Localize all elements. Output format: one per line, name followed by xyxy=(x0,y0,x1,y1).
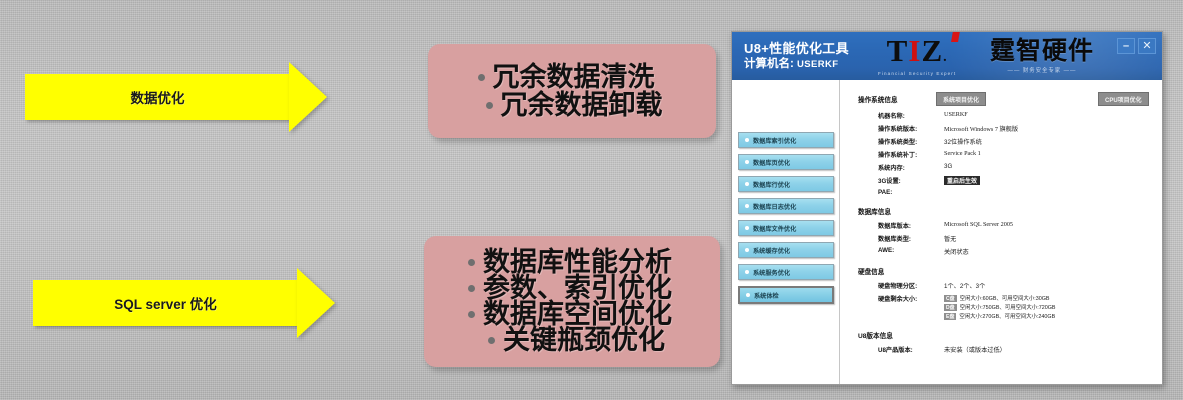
info-key: 操作系统类型: xyxy=(878,137,944,146)
arrow-shaft: SQL server 优化 xyxy=(33,280,298,326)
info-value: 1个、2个、3个 xyxy=(944,281,985,290)
info-value: 暂无 xyxy=(944,234,956,243)
list-item-label: 关键瓶颈优化 xyxy=(503,327,665,354)
bullet-dot-icon xyxy=(468,285,475,292)
info-key: PAE: xyxy=(878,189,944,196)
list-item: 关键瓶颈优化 xyxy=(468,327,672,354)
disk-badge: C盘 xyxy=(944,295,957,302)
logo-letter-z: Z xyxy=(921,33,943,68)
list-item: 数据库空间优化 xyxy=(468,301,672,328)
info-key: 数据库版本: xyxy=(878,221,944,230)
info-row-db-version: 数据库版本: Microsoft SQL Server 2005 xyxy=(858,221,1154,230)
list-item-label: 冗余数据卸载 xyxy=(501,92,663,119)
sidebar-item-label: 系统缓存优化 xyxy=(753,246,790,255)
list-item-label: 参数、索引优化 xyxy=(483,275,672,302)
brand-name: 霆智硬件 xyxy=(990,38,1094,65)
bullet-list: 冗余数据清洗 冗余数据卸载 xyxy=(478,63,663,120)
sidebar-item-label: 系统体检 xyxy=(754,291,779,300)
sidebar-item-db-index[interactable]: 数据库索引优化 xyxy=(738,132,834,148)
list-item-label: 冗余数据清洗 xyxy=(493,64,655,91)
sidebar-item-db-row[interactable]: 数据库行优化 xyxy=(738,176,834,192)
info-row-pae: PAE: xyxy=(858,189,1154,196)
callout-box-data-optimization: 冗余数据清洗 冗余数据卸载 xyxy=(428,44,716,138)
info-key: 硬盘剩余大小: xyxy=(878,294,944,303)
bullet-icon xyxy=(745,160,749,164)
disk-badge: E盘 xyxy=(944,313,956,320)
logo-letter-t: T xyxy=(887,33,909,68)
info-key: 操作系统补丁: xyxy=(878,150,944,159)
window-title-bar: U8+性能优化工具 计算机名: USERKF TIZ. Financial Se… xyxy=(732,32,1162,80)
bullet-icon xyxy=(745,182,749,186)
title-bar-text-group: U8+性能优化工具 计算机名: USERKF xyxy=(732,41,849,71)
reboot-required-badge: 重启后生效 xyxy=(944,176,980,185)
sidebar-item-label: 数据库日志优化 xyxy=(753,202,796,211)
callout-box-sql-optimization: 数据库性能分析 参数、索引优化 数据库空间优化 关键瓶颈优化 xyxy=(424,236,720,367)
bullet-dot-icon xyxy=(468,259,475,266)
arrow-label: 数据优化 xyxy=(131,87,185,107)
info-key: 操作系统版本: xyxy=(878,124,944,133)
info-value: Service Pack 1 xyxy=(944,150,981,157)
brand-subtitle: —— 财务安全专家 —— xyxy=(990,66,1094,74)
info-value: 未安装（或版本过低） xyxy=(944,345,1006,354)
info-key: 硬盘物理分区: xyxy=(878,281,944,290)
sidebar-item-db-file[interactable]: 数据库文件优化 xyxy=(738,220,834,236)
disk-text: 空闲大小:270GB、可用空间大小:240GB xyxy=(959,312,1055,320)
list-item: 参数、索引优化 xyxy=(468,275,672,302)
db-section-title: 数据库信息 xyxy=(858,206,1154,216)
info-value: Microsoft SQL Server 2005 xyxy=(944,221,1013,228)
bullet-icon xyxy=(745,248,749,252)
disk-free-list: C盘 空闲大小:60GB、可用空间大小:30GB D盘 空闲大小:750GB、可… xyxy=(944,294,1055,320)
list-item-label: 数据库空间优化 xyxy=(483,301,672,328)
tiz-logo: TIZ. Financial Security Expert xyxy=(878,36,956,76)
logo-red-mark-icon xyxy=(951,32,960,42)
list-item: 冗余数据卸载 xyxy=(478,92,663,119)
info-row-os-version: 操作系统版本: Microsoft Windows 7 旗舰版 xyxy=(858,124,1154,133)
info-key: 系统内存: xyxy=(878,163,944,172)
disk-text: 空闲大小:60GB、可用空间大小:30GB xyxy=(960,294,1050,302)
slide-canvas: 数据优化 SQL server 优化 冗余数据清洗 冗余数据卸载 数据库性能 xyxy=(0,0,1183,400)
system-optimize-button[interactable]: 系统项目优化 xyxy=(936,92,986,106)
list-item-label: 数据库性能分析 xyxy=(483,249,672,276)
info-value: Microsoft Windows 7 旗舰版 xyxy=(944,124,1018,133)
arrow-shaft: 数据优化 xyxy=(25,74,290,120)
sidebar-item-system-cache[interactable]: 系统缓存优化 xyxy=(738,242,834,258)
info-key: U8产品版本: xyxy=(878,345,944,354)
bullet-icon xyxy=(745,270,749,274)
info-value: 关闭状态 xyxy=(944,247,969,256)
info-key: AWE: xyxy=(878,247,944,254)
bullet-icon xyxy=(746,293,750,297)
disk-entry: E盘 空闲大小:270GB、可用空间大小:240GB xyxy=(944,312,1055,320)
brand-name-group: 霆智硬件 —— 财务安全专家 —— xyxy=(990,38,1094,74)
list-item: 冗余数据清洗 xyxy=(478,64,663,91)
content-panel: 操作系统信息 系统项目优化 CPU项目优化 机器名称: USERKF 操作系统版… xyxy=(840,80,1162,384)
arrow-sql-optimization: SQL server 优化 xyxy=(33,268,335,338)
os-section-header: 操作系统信息 系统项目优化 CPU项目优化 xyxy=(858,92,1154,106)
disk-entry: D盘 空闲大小:750GB、可用空间大小:720GB xyxy=(944,303,1055,311)
os-section-title: 操作系统信息 xyxy=(858,94,936,104)
info-row-db-type: 数据库类型: 暂无 xyxy=(858,234,1154,243)
logo-period: . xyxy=(943,50,948,65)
app-title: U8+性能优化工具 xyxy=(744,41,849,57)
sidebar-item-label: 数据库索引优化 xyxy=(753,136,796,145)
u8-section-title: U8版本信息 xyxy=(858,330,1154,340)
info-row-os-patch: 操作系统补丁: Service Pack 1 xyxy=(858,150,1154,159)
computer-name-value: USERKF xyxy=(797,59,838,70)
bullet-icon xyxy=(745,138,749,142)
info-value: 3G xyxy=(944,163,952,170)
sidebar-item-system-checkup[interactable]: 系统体检 xyxy=(738,286,834,304)
disk-section-title: 硬盘信息 xyxy=(858,266,1154,276)
info-value: 32位操作系统 xyxy=(944,137,982,146)
sidebar-item-label: 数据库行优化 xyxy=(753,180,790,189)
bullet-dot-icon xyxy=(488,337,495,344)
computer-name-label: 计算机名: xyxy=(744,58,794,70)
logo-letter-i: I xyxy=(908,33,921,68)
disk-text: 空闲大小:750GB、可用空间大小:720GB xyxy=(960,303,1056,311)
info-key: 3G设置: xyxy=(878,176,944,185)
sidebar-item-db-log[interactable]: 数据库日志优化 xyxy=(738,198,834,214)
bullet-dot-icon xyxy=(478,74,485,81)
arrow-data-optimization: 数据优化 xyxy=(25,62,327,132)
window-body: 数据库索引优化 数据库页优化 数据库行优化 数据库日志优化 数据库文件优化 xyxy=(732,80,1162,384)
arrow-label: SQL server 优化 xyxy=(114,293,217,313)
application-window: U8+性能优化工具 计算机名: USERKF TIZ. Financial Se… xyxy=(731,31,1163,385)
info-row-memory: 系统内存: 3G xyxy=(858,163,1154,172)
sidebar-item-label: 系统服务优化 xyxy=(753,268,790,277)
logo-wordmark: TIZ. xyxy=(887,36,948,73)
info-row-u8-version: U8产品版本: 未安装（或版本过低） xyxy=(858,345,1154,354)
sidebar-item-system-service[interactable]: 系统服务优化 xyxy=(738,264,834,280)
info-value: USERKF xyxy=(944,111,968,118)
bullet-icon xyxy=(745,226,749,230)
info-key: 机器名称: xyxy=(878,111,944,120)
sidebar-item-db-page[interactable]: 数据库页优化 xyxy=(738,154,834,170)
info-row-disk-free: 硬盘剩余大小: C盘 空闲大小:60GB、可用空间大小:30GB D盘 空闲大小… xyxy=(858,294,1154,320)
window-controls: – ✕ xyxy=(1117,38,1156,54)
bullet-dot-icon xyxy=(486,102,493,109)
arrow-head-icon xyxy=(289,62,327,132)
computer-name-row: 计算机名: USERKF xyxy=(744,57,849,71)
sidebar-item-label: 数据库页优化 xyxy=(753,158,790,167)
cpu-optimize-button[interactable]: CPU项目优化 xyxy=(1098,92,1149,106)
sidebar-nav: 数据库索引优化 数据库页优化 数据库行优化 数据库日志优化 数据库文件优化 xyxy=(732,80,840,384)
info-row-disk-partitions: 硬盘物理分区: 1个、2个、3个 xyxy=(858,281,1154,290)
info-row-os-type: 操作系统类型: 32位操作系统 xyxy=(858,137,1154,146)
arrow-head-icon xyxy=(297,268,335,338)
sidebar-item-label: 数据库文件优化 xyxy=(753,224,796,233)
info-row-awe: AWE: 关闭状态 xyxy=(858,247,1154,256)
disk-entry: C盘 空闲大小:60GB、可用空间大小:30GB xyxy=(944,294,1055,302)
info-key: 数据库类型: xyxy=(878,234,944,243)
info-row-machine-name: 机器名称: USERKF xyxy=(858,111,1154,120)
info-row-3g-setting: 3G设置: 重启后生效 xyxy=(858,176,1154,185)
bullet-icon xyxy=(745,204,749,208)
disk-badge: D盘 xyxy=(944,304,957,311)
bullet-list: 数据库性能分析 参数、索引优化 数据库空间优化 关键瓶颈优化 xyxy=(468,250,672,353)
list-item: 数据库性能分析 xyxy=(468,249,672,276)
close-button[interactable]: ✕ xyxy=(1138,38,1156,54)
minimize-button[interactable]: – xyxy=(1117,38,1135,54)
bullet-dot-icon xyxy=(468,311,475,318)
